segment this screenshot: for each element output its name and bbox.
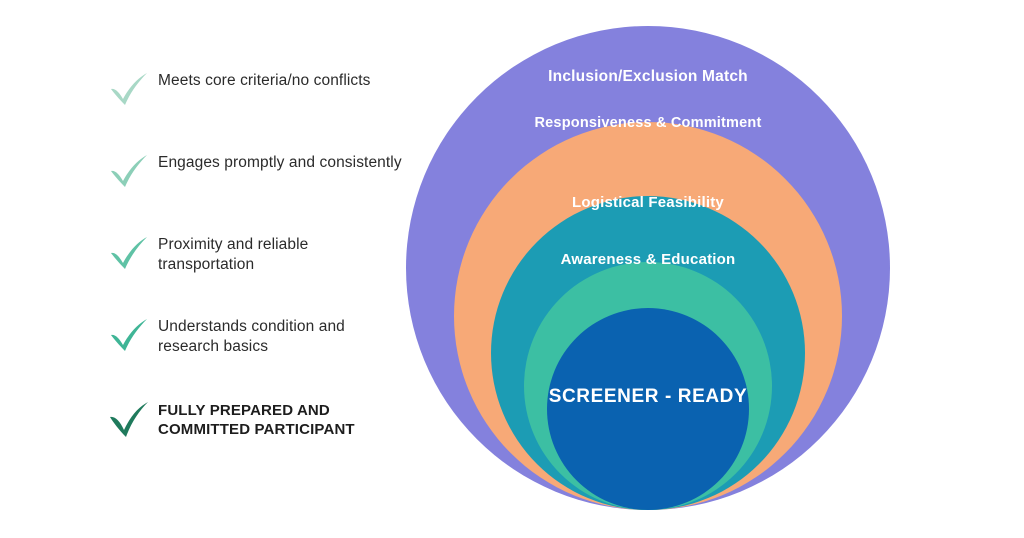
- circle-layer-label: Logistical Feasibility: [491, 192, 805, 213]
- circle-layer-label: Responsiveness & Commitment: [454, 113, 842, 134]
- circle-layer-label: Inclusion/Exclusion Match: [406, 66, 890, 88]
- circle-layer-screener-ready: SCREENER - READY: [547, 308, 749, 510]
- circle-core-label: SCREENER - READY: [547, 384, 749, 410]
- nested-circle-diagram: Inclusion/Exclusion Match Responsiveness…: [0, 0, 1024, 538]
- circle-layer-label: Awareness & Education: [524, 249, 772, 270]
- diagram-canvas: Meets core criteria/no conflicts Engages…: [0, 0, 1024, 538]
